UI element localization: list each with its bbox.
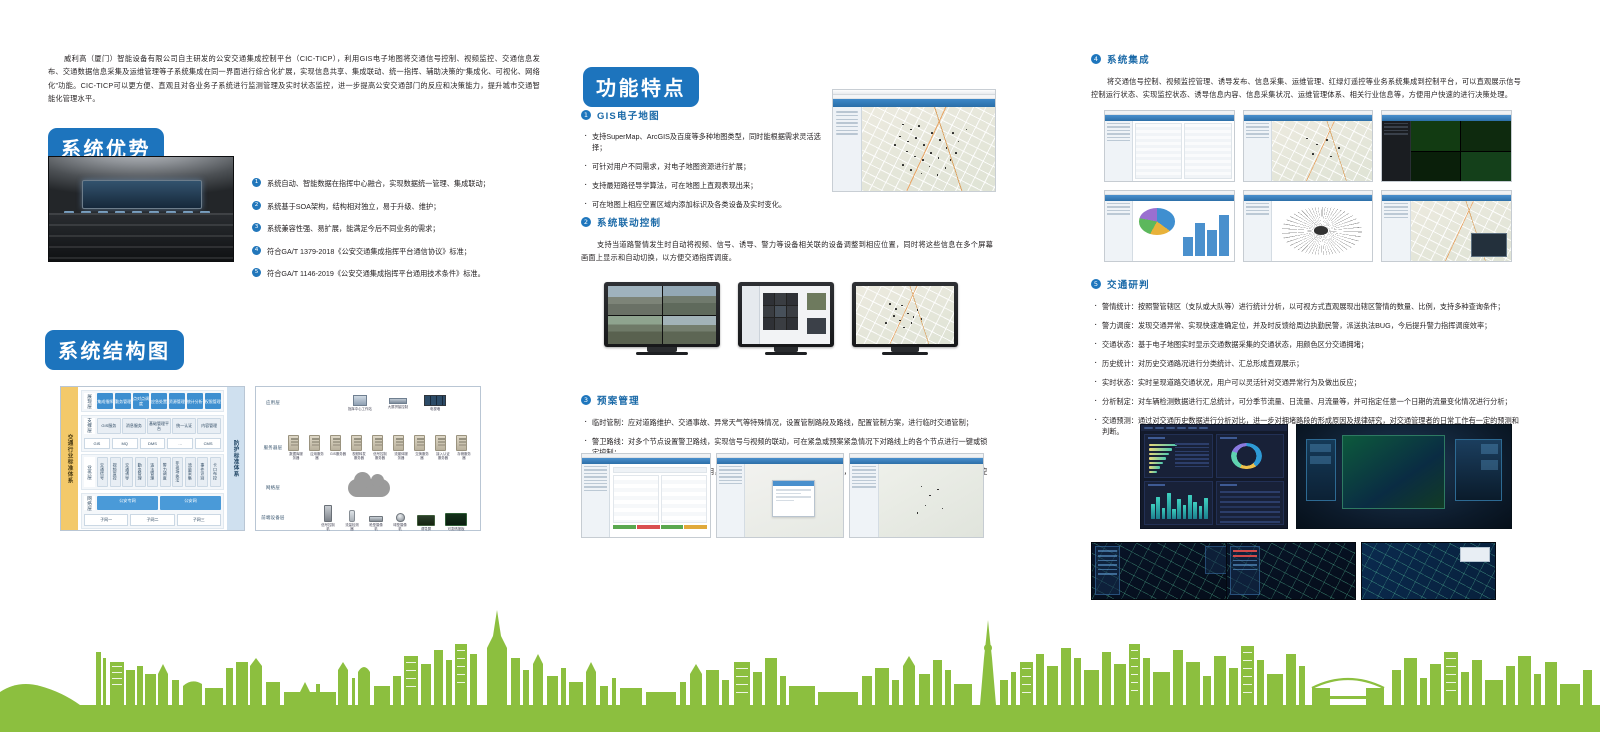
arch-row-label: 业务层 (84, 457, 95, 487)
arch-row-presentation: 展现层 集成指挥 勤务管理 点对点调度 应急处置 资源管理 统计分析 权限管理 (81, 390, 224, 412)
topology-node: 信号控制服务器 (372, 435, 388, 460)
screenshot-sidebar (717, 464, 745, 537)
camera-feed (608, 286, 662, 315)
screenshot-sidebar (1382, 121, 1410, 181)
arch-sub-cell: … (167, 438, 193, 449)
arch-cell: 权限管理 (205, 393, 221, 409)
topology-node: 枪型摄像机 (368, 516, 384, 531)
list-number: 3 (252, 223, 261, 232)
arch-row-cells: GIS服务 消息服务 基础管理平台 统一认证 内容管理 (97, 418, 221, 434)
architecture-diagram: 交通行业标准体系 展现层 集成指挥 勤务管理 点对点调度 应急处置 资源管理 统… (60, 386, 481, 531)
arch-cell: 资源管理 (169, 393, 185, 409)
integration-chart-screenshot (1104, 190, 1235, 262)
screenshot-body (1382, 121, 1511, 181)
integration-heading: 4 系统集成 (1091, 52, 1521, 66)
arch-net-cell: 公安网 (160, 496, 221, 511)
table-rows (1220, 491, 1281, 521)
server-icon (393, 435, 404, 451)
server-icon (372, 435, 383, 451)
video-inset (1471, 233, 1507, 257)
column-left: 威利高（厦门）智能设备有限公司自主研发的公安交通集成控制平台（CIC-TICP）… (48, 52, 540, 106)
topology-node: 电视墙 (424, 395, 446, 411)
list-item: 警情统计：按照警管辖区（支队或大队等）进行统计分析，以可视方式直观展现出辖区警情… (1091, 301, 1523, 312)
arch-cell: 集成指挥 (97, 393, 113, 409)
analysis-title: 交通研判 (1107, 277, 1150, 291)
arch-cell: 点对点调度 (133, 393, 149, 409)
cctv-monitor (604, 282, 720, 355)
server-icon (288, 435, 299, 451)
arch-cell: 交通信号 (97, 457, 108, 487)
arch-sub-cell: 子网三 (177, 514, 221, 526)
panel-title (1220, 437, 1237, 439)
wall-tile (1481, 444, 1498, 454)
list-item: 支持SuperMap、ArcGIS及百度等多种地图类型，同时能根据需求灵活选择； (581, 131, 826, 153)
arch-network-sublabels: 子网一 子网二 子网三 (84, 514, 221, 526)
camera-feed (1461, 121, 1511, 151)
topology-layer-devices: 前端设备层 信号控制机 流量检测器 枪型摄像机 (260, 505, 468, 531)
arch-core: 展现层 集成指挥 勤务管理 点对点调度 应急处置 资源管理 统计分析 权限管理 … (78, 387, 227, 530)
feature-number: 3 (581, 395, 591, 405)
server-icon (351, 435, 362, 451)
topology-node: 数据库服务器 (288, 435, 304, 460)
arch-sub-cell: CMS (195, 438, 221, 449)
screenshot-map (879, 464, 983, 537)
arch-sub-cell: GIS (84, 438, 110, 449)
integration-paragraph: 将交通信号控制、视频监控管理、诱导发布、信息采集、运维管理、红绿灯遥控等业务系统… (1091, 75, 1521, 102)
map-markers (862, 107, 995, 191)
arch-cell: 统计分析 (187, 393, 203, 409)
arch-cell: 交通诱导 (122, 457, 133, 487)
integration-number: 4 (1091, 54, 1101, 64)
gis-map-screenshot (832, 89, 996, 192)
list-text: 符合GA/T 1379-2018《公安交通集成指挥平台通信协议》标准； (267, 247, 471, 256)
workstation-icon (353, 395, 367, 406)
topology-node: 信号控制机 (320, 505, 336, 531)
analysis-bullets: 警情统计：按照警管辖区（支队或大队等）进行统计分析，以可视方式直观展现出辖区警情… (1091, 301, 1523, 437)
arch-cell: 勤务管理 (115, 393, 131, 409)
arch-cell: 内容管理 (197, 418, 221, 434)
feature-heading: 2 系统联动控制 (581, 215, 993, 229)
list-item: 历史统计：对历史交通路况进行分类统计、汇总形成直观展示； (1091, 358, 1523, 369)
arch-cell: 基础管理平台 (147, 418, 171, 434)
map-markers (1272, 121, 1372, 181)
arch-side-label-right: 防护标准体系 (227, 387, 244, 530)
analysis-darkmap-3 (1361, 542, 1496, 600)
feature-number: 2 (581, 217, 591, 227)
gis-monitor (852, 282, 958, 355)
wall-tile (1481, 460, 1498, 470)
screenshot-body (1244, 121, 1373, 181)
screenshot-body (582, 464, 710, 537)
screenshot-sidebar (1244, 121, 1272, 181)
city-skyline-footer (0, 600, 1600, 732)
feature-title: 系统联动控制 (597, 215, 661, 229)
server-icon (435, 435, 446, 451)
video-grid (1411, 121, 1511, 181)
feature-block-linkage: 2 系统联动控制 支持当道路警情发生时自动将视频、信号、诱导、警力等设备相关联的… (581, 215, 993, 265)
monitor-bezel (604, 282, 720, 347)
monitor-screen (608, 286, 716, 344)
analysis-dashboard-screenshot (1140, 424, 1288, 529)
screenshot-body (1382, 201, 1511, 261)
screenshot-body (850, 464, 983, 537)
feature-paragraph: 支持当道路警情发生时自动将视频、信号、诱导、警力等设备相关联的设备调整到相应位置… (581, 238, 993, 265)
integration-network-screenshot (1243, 190, 1374, 262)
topology-node: GIS服务器 (330, 435, 346, 460)
list-item: 实时状态：实时呈现道路交通状况，用户可以灵活针对交通异常行为及做出反应； (1091, 377, 1523, 388)
integration-monitor-screenshot (1381, 190, 1512, 262)
server-icon (456, 435, 467, 451)
list-item: 警力调度：发现交通异常、实现快速准确定位，并及时反馈给周边执勤民警，派送执法BU… (1091, 320, 1523, 331)
integration-video-screenshot (1381, 110, 1512, 182)
monitor-foot (765, 352, 807, 355)
hud-left-panel (1230, 546, 1261, 594)
arch-sub-cell: DMS (140, 438, 166, 449)
screenshot-body (833, 107, 995, 191)
arch-cell: 违法管理 (147, 457, 158, 487)
list-item: 支持最短路径导学算法，可在地图上直观表现出来； (581, 180, 826, 191)
list-number: 5 (252, 268, 261, 277)
topology-node-label: 数据库服务器 (288, 452, 304, 460)
arch-cell: 卡口布控 (210, 457, 221, 487)
screenshot-sidebar (850, 464, 879, 537)
monitor-bezel (738, 282, 834, 347)
arch-row-business: 业务层 交通信号 视频监控 交通诱导 勤务管理 违法管理 警力调度 非现场执法 … (81, 454, 224, 490)
arch-row-label: 支撑层 (84, 418, 95, 434)
topology-layer-label: 网络层 (260, 485, 286, 491)
videowall-icon (424, 395, 446, 406)
screenshot-navbar (833, 99, 995, 107)
panel-title (1148, 437, 1165, 439)
screenshot-sidebar (1105, 121, 1133, 181)
topology-node-label: 枪型摄像机 (368, 523, 384, 531)
arch-side-label-left: 交通行业标准体系 (61, 387, 78, 530)
screenshot-sidebar (1105, 201, 1133, 261)
cctv-grid (608, 286, 716, 344)
list-number: 2 (252, 201, 261, 210)
server-icon (414, 435, 425, 451)
topology-layer-label: 应用层 (260, 400, 286, 406)
hud-left-panel (1095, 546, 1120, 594)
preview-thumb (807, 293, 826, 310)
list-item: 可在地图上相应空置区域内添加标识及各类设备及实时变化。 (581, 199, 826, 210)
topology-node-label: 视频转发服务器 (351, 452, 367, 460)
list-number: 4 (252, 246, 261, 255)
arch-row-cells: 集成指挥 勤务管理 点对点调度 应急处置 资源管理 统计分析 权限管理 (97, 393, 221, 409)
topology-node: 可变情报板 (444, 513, 468, 531)
brochure-page: 威利高（厦门）智能设备有限公司自主研发的公安交通集成控制平台（CIC-TICP）… (0, 0, 1600, 732)
wall-tile (1310, 456, 1331, 464)
arch-cell: 消息服务 (122, 418, 146, 434)
camera-feed (1461, 152, 1511, 182)
feature-block-gis: 1 GIS电子地图 支持SuperMap、ArcGIS及百度等多种地图类型，同时… (581, 108, 826, 218)
topology-node (348, 479, 390, 497)
topology-node-label: 信号控制机 (320, 523, 336, 531)
topology-layer-application: 应用层 指挥中心工作站 大屏拼接控制 电视墙 (260, 395, 446, 411)
monitor-screen (742, 286, 830, 344)
monitor-foot (636, 352, 687, 355)
vertical-bar-chart (1151, 491, 1208, 519)
camera-feed (1411, 152, 1461, 182)
flow-detector-icon (349, 510, 355, 522)
signal-controller-icon (324, 505, 332, 522)
preview-thumb (807, 318, 826, 333)
list-text: 系统自动、智能数据在指挥中心融合，实现数据统一管理、集成联动； (267, 179, 490, 188)
screenshot-content (1133, 121, 1233, 181)
integration-signal-screenshot (1104, 110, 1235, 182)
list-number: 1 (252, 178, 261, 187)
topology-node: 指挥中心工作站 (348, 395, 372, 411)
server-icon (330, 435, 341, 451)
panel-horizontal-bars (1144, 434, 1213, 478)
arch-cell: 非现场执法 (172, 457, 183, 487)
list-item: 临时管制：应对道路维护、交通事故、异常天气等特殊情况，设置管制路段及路线，配置管… (581, 417, 993, 428)
topology-node-label: GIS服务器 (330, 452, 346, 456)
control-monitor (738, 282, 834, 355)
arch-support-sublabels: GIS MQ DMS … CMS (84, 438, 221, 449)
topology-node-label: 诱导屏 (416, 527, 436, 531)
camera-feed (663, 286, 717, 315)
topology-node: 应用服务器 (309, 435, 325, 460)
integration-thumbnail-grid (1104, 110, 1512, 262)
map-dialog (772, 480, 815, 517)
screenshot-body (717, 464, 843, 537)
panel-table (1175, 443, 1208, 474)
list-item: 交通状态：基于电子地图实时显示交通数据采集的交通状态，用颜色区分交通拥堵； (1091, 339, 1523, 350)
architecture-layers-diagram: 交通行业标准体系 展现层 集成指挥 勤务管理 点对点调度 应急处置 资源管理 统… (60, 386, 245, 531)
screenshot-map (745, 464, 843, 537)
panel-title (1220, 484, 1237, 486)
hud-right-panel (1205, 546, 1227, 574)
bar-chart (1183, 208, 1228, 256)
map-markers (856, 286, 954, 344)
badge-system-architecture: 系统结构图 (45, 330, 184, 370)
plan-detail-screenshot (849, 453, 984, 538)
control-sidebar (742, 286, 760, 344)
bullet-camera-icon (369, 516, 383, 522)
topology-node: 存储服务器 (456, 435, 472, 460)
panel-vertical-bars (1144, 481, 1213, 525)
monitor-foot (882, 352, 929, 355)
arch-network-cells: 公安专网 公安网 (97, 496, 221, 511)
intersection-grid (763, 293, 798, 330)
list-text: 系统基于SOA架构，结构相对独立，易于升级、维护； (267, 202, 440, 211)
arch-row-cells: 交通信号 视频监控 交通诱导 勤务管理 违法管理 警力调度 非现场执法 流量采集… (97, 457, 221, 487)
feature-title: GIS电子地图 (597, 108, 660, 122)
arch-cell: 视频监控 (110, 457, 121, 487)
screenshot-map (1411, 201, 1511, 261)
feature-title: 预案管理 (597, 393, 640, 407)
cloud-icon (348, 479, 390, 497)
topology-node-label: 大屏拼接控制 (388, 405, 408, 409)
plan-map-screenshot (716, 453, 844, 538)
feature-heading: 1 GIS电子地图 (581, 108, 826, 122)
analysis-darkmap-1 (1091, 542, 1231, 600)
plan-list-screenshot (581, 453, 711, 538)
topology-node: 视频转发服务器 (351, 435, 367, 460)
arch-row-support: 支撑层 GIS服务 消息服务 基础管理平台 统一认证 内容管理 GIS MQ D… (81, 415, 224, 452)
wall-tile (1310, 444, 1331, 452)
screenshot-content (1133, 201, 1233, 261)
arch-cell: 流量采集 (185, 457, 196, 487)
monitor-screen (856, 286, 954, 344)
analysis-heading: 5 交通研判 (1091, 277, 1523, 291)
arch-cell: GIS服务 (97, 418, 121, 434)
arch-cell: 事件识别 (197, 457, 208, 487)
topology-node-label: 指挥中心工作站 (348, 407, 372, 411)
analysis-number: 5 (1091, 279, 1101, 289)
advantages-list: 1 系统自动、智能数据在指挥中心融合，实现数据统一管理、集成联动； 2 系统基于… (252, 178, 530, 291)
topology-node-label: 存储服务器 (456, 452, 472, 460)
arch-sub-cell: 子网二 (130, 514, 174, 526)
arch-cell: 警力调度 (160, 457, 171, 487)
network-graph (1272, 201, 1372, 261)
map-popup (1460, 547, 1489, 562)
intro-paragraph: 威利高（厦门）智能设备有限公司自主研发的公安交通集成控制平台（CIC-TICP）… (48, 52, 540, 106)
topology-node-label: 流媒体服务器 (393, 452, 409, 460)
donut-chart (1231, 443, 1262, 470)
list-text: 符合GA/T 1146-2019《公安交通集成指挥平台通用技术条件》标准。 (267, 269, 485, 278)
arch-cell: 统一认证 (172, 418, 196, 434)
topology-layer-label: 前端设备层 (260, 515, 286, 521)
topology-node-label: 信号控制服务器 (372, 452, 388, 460)
map-markers (879, 464, 983, 537)
list-item: 5 符合GA/T 1146-2019《公安交通集成指挥平台通用技术条件》标准。 (252, 268, 530, 279)
arch-row-label: 展现层 (84, 393, 95, 409)
topology-layer-label: 服务器层 (260, 445, 286, 451)
topology-node-label: 接入认证服务器 (435, 452, 451, 460)
topology-node: 接入认证服务器 (435, 435, 451, 460)
topology-node-label: 可变情报板 (444, 527, 468, 531)
arch-row-network: 网络层 公安专网 公安网 子网一 子网二 子网三 (81, 493, 224, 530)
room-monitor-row (64, 211, 219, 228)
splicer-icon (389, 398, 407, 404)
dashboard-panels (1141, 431, 1287, 528)
topology-node: 球型摄像机 (392, 513, 408, 531)
list-item: 分析制定：对车辆检测数据进行汇总统计，可分季节流量、日流量、月流量等，并可指定任… (1091, 396, 1523, 407)
topology-node: 交换服务器 (414, 435, 430, 460)
control-room-photo (48, 156, 234, 262)
camera-feed (663, 316, 717, 345)
integration-map-screenshot (1243, 110, 1374, 182)
list-text: 系统兼容性强、易扩展，能满足今后不同业务的需求； (267, 224, 440, 233)
camera-feed (1411, 121, 1461, 151)
section-integration: 4 系统集成 将交通信号控制、视频监控管理、诱导发布、信息采集、运维管理、红绿灯… (1091, 52, 1521, 102)
screenshot-sidebar (582, 464, 610, 537)
arch-cell: 应急处置 (151, 393, 167, 409)
screenshot-map (1272, 121, 1372, 181)
vms-board-icon (445, 513, 467, 526)
badge-features: 功能特点 (583, 67, 699, 107)
list-item: 3 系统兼容性强、易扩展，能满足今后不同业务的需求； (252, 223, 530, 234)
arch-sub-cell: MQ (112, 438, 138, 449)
topology-node-label: 电视墙 (424, 407, 446, 411)
arch-sub-cell: 子网一 (84, 514, 128, 526)
list-item: 4 符合GA/T 1379-2018《公安交通集成指挥平台通信协议》标准； (252, 246, 530, 257)
room-seat-row (49, 209, 233, 261)
feature-heading: 3 预案管理 (581, 393, 993, 407)
panel-donut (1216, 434, 1285, 478)
screenshot-body (1105, 121, 1234, 181)
topology-node-label: 球型摄像机 (392, 523, 408, 531)
screenshot-body (1105, 201, 1234, 261)
screenshot-body (1244, 201, 1373, 261)
wall-screen-center (1342, 435, 1445, 509)
network-topology-diagram: 应用层 指挥中心工作站 大屏拼接控制 电视墙 (255, 386, 481, 531)
screenshot-sidebar (1382, 201, 1410, 261)
integration-title: 系统集成 (1107, 52, 1150, 66)
list-item: 2 系统基于SOA架构，结构相对独立，易于升级、维护； (252, 201, 530, 212)
topology-node: 流量检测器 (344, 510, 360, 531)
guidance-screen-icon (417, 515, 435, 526)
screenshot-content (610, 464, 710, 537)
topology-node: 流媒体服务器 (393, 435, 409, 460)
feature-number: 1 (581, 110, 591, 120)
feature-bullets: 支持SuperMap、ArcGIS及百度等多种地图类型，同时能根据需求灵活选择；… (581, 131, 826, 210)
arch-row-label: 网络层 (84, 496, 95, 511)
dome-camera-icon (396, 513, 405, 522)
topology-node-label: 应用服务器 (309, 452, 325, 460)
list-item: 1 系统自动、智能数据在指挥中心融合，实现数据统一管理、集成联动； (252, 178, 530, 189)
topology-node: 大屏拼接控制 (388, 395, 408, 411)
topology-node: 诱导屏 (416, 515, 436, 531)
analysis-darkmap-2 (1226, 542, 1356, 600)
section-analysis: 5 交通研判 警情统计：按照警管辖区（支队或大队等）进行统计分析，以可视方式直观… (1091, 277, 1523, 445)
server-icon (309, 435, 320, 451)
screenshot-map (862, 107, 995, 191)
topology-layer-server: 服务器层 数据库服务器 应用服务器 GIS服务器 视频转发服务器 信号控制服务器… (260, 435, 472, 460)
panel-data-table (1216, 481, 1285, 525)
topology-node-label: 交换服务器 (414, 452, 430, 460)
camera-feed (608, 316, 662, 345)
arch-cell: 勤务管理 (135, 457, 146, 487)
list-item: 可针对用户不同需求，对电子地图资源进行扩展； (581, 161, 826, 172)
screenshot-sidebar (833, 107, 862, 191)
analysis-wall-screenshot (1296, 424, 1512, 529)
topology-layer-network: 网络层 (260, 479, 390, 497)
monitor-bezel (852, 282, 958, 347)
topology-node-label: 流量检测器 (344, 523, 360, 531)
arch-net-cell: 公安专网 (97, 496, 158, 511)
screenshot-sidebar (1244, 201, 1272, 261)
panel-title (1148, 484, 1165, 486)
pie-chart (1139, 208, 1175, 234)
